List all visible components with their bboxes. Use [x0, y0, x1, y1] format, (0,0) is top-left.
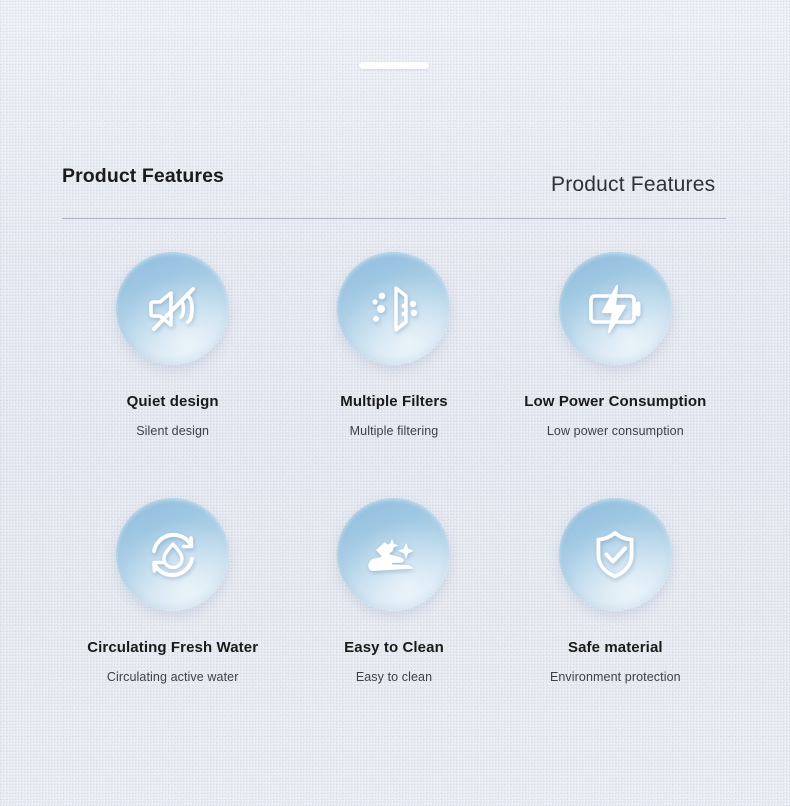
feature-item-quiet-design: Quiet design Silent design [62, 252, 283, 438]
feature-title: Quiet design [127, 393, 219, 410]
battery-charging-icon [583, 277, 647, 341]
feature-subtitle: Environment protection [550, 670, 681, 684]
feature-title: Multiple Filters [340, 393, 447, 410]
feature-subtitle: Easy to clean [356, 670, 432, 684]
feature-item-easy-to-clean: Easy to Clean Easy to clean [283, 498, 504, 684]
icon-badge [337, 252, 450, 365]
icon-badge [116, 498, 229, 611]
water-drop-recycle-icon [141, 523, 205, 587]
feature-title: Safe material [568, 639, 663, 656]
feature-title: Circulating Fresh Water [87, 639, 258, 656]
top-divider-pill [359, 62, 429, 69]
feature-subtitle: Silent design [136, 424, 209, 438]
speaker-mute-icon [141, 277, 205, 341]
icon-badge [559, 498, 672, 611]
feature-item-safe-material: Safe material Environment protection [505, 498, 726, 684]
header-divider [62, 218, 726, 219]
icon-badge [116, 252, 229, 365]
page-title-secondary: Product Features [551, 173, 715, 197]
feature-item-circulating-water: Circulating Fresh Water Circulating acti… [62, 498, 283, 684]
icon-badge [337, 498, 450, 611]
shield-check-icon [583, 523, 647, 587]
feature-grid: Quiet design Silent design [62, 252, 726, 684]
multi-filter-icon [362, 277, 426, 341]
feature-page: Product Features Product Features Quiet … [0, 0, 790, 806]
icon-badge [559, 252, 672, 365]
feature-item-low-power: Low Power Consumption Low power consumpt… [505, 252, 726, 438]
feature-item-multiple-filters: Multiple Filters Multiple filtering [283, 252, 504, 438]
hand-wipe-sparkle-icon [362, 523, 426, 587]
page-title-primary: Product Features [62, 165, 224, 188]
feature-subtitle: Circulating active water [107, 670, 239, 684]
feature-subtitle: Low power consumption [547, 424, 684, 438]
feature-title: Low Power Consumption [524, 393, 706, 410]
feature-subtitle: Multiple filtering [350, 424, 439, 438]
feature-title: Easy to Clean [344, 639, 444, 656]
